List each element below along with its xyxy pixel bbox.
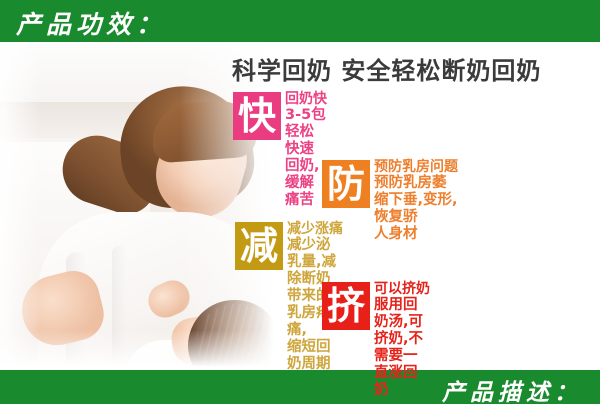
feature-desc-ji: 服用回奶汤,可挤奶,不需要一 直涨回奶 [374, 297, 430, 399]
feature-title-ji: 可以挤奶 [374, 281, 430, 297]
page-title: 产品功效： [16, 5, 166, 41]
feature-desc-fang: 预防乳房萎缩下垂,变形,恢复骄 人身材 [374, 175, 458, 243]
headline: 科学回奶 安全轻松断奶回奶 [232, 51, 541, 86]
feature-badge-fang: 防 [322, 160, 370, 208]
feature-title-jian: 减少涨痛 [287, 221, 343, 237]
feature-title-kuai: 回奶快 [285, 91, 327, 107]
product-efficacy-banner: 产品功效： 科学回奶 安全轻松断奶回奶 快 [0, 0, 600, 404]
feature-desc-kuai: 3-5包轻松快速回奶,缓解痛苦 [285, 107, 327, 209]
footer-title: 产品描述： [442, 373, 582, 404]
photo-left-fade [0, 42, 40, 370]
feature-text-fang: 预防乳房问题 预防乳房萎缩下垂,变形,恢复骄 人身材 [374, 159, 458, 243]
feature-text-ji: 可以挤奶 服用回奶汤,可挤奶,不需要一 直涨回奶 [374, 281, 430, 399]
feature-text-kuai: 回奶快 3-5包轻松快速回奶,缓解痛苦 [285, 91, 327, 209]
header-bar: 产品功效： [0, 0, 600, 42]
footer-bar: 产品描述： [0, 370, 600, 404]
feature-title-fang: 预防乳房问题 [374, 159, 458, 175]
feature-badge-ji: 挤 [322, 282, 370, 330]
photo-bottom-fade [0, 330, 300, 370]
feature-badge-jian: 减 [235, 222, 283, 270]
feature-badge-kuai: 快 [233, 92, 281, 140]
